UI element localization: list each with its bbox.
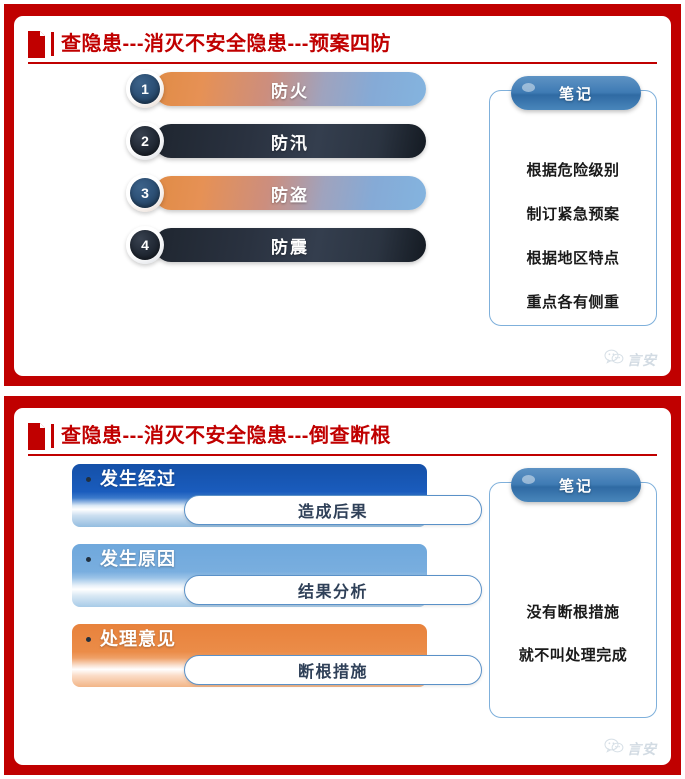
stack-item-head-label: 发生经过 [100, 470, 176, 490]
item-number-badge: 1 [126, 70, 164, 108]
watermark: 言安 [604, 738, 657, 759]
slide-deck: 查隐患---消灭不安全隐患---预案四防 防火 1 防汛 [0, 0, 685, 779]
stack-item-head-label: 处理意见 [100, 630, 176, 650]
notes-line: 重点各有侧重 [526, 291, 619, 312]
item-label: 防火 [271, 77, 309, 102]
notes-panel: 没有断根措施 就不叫处理完成 笔记 [489, 468, 657, 718]
slide-2-title-underline [28, 454, 657, 456]
item-number: 2 [130, 126, 160, 156]
watermark-text: 言安 [627, 350, 657, 370]
slide-1-title-underline [28, 62, 657, 64]
stack-item-pill-label: 断根措施 [298, 658, 368, 682]
notes-lines: 没有断根措施 就不叫处理完成 [490, 601, 656, 665]
notes-line: 根据危险级别 [526, 159, 619, 180]
notes-line: 制订紧急预案 [526, 203, 619, 224]
flag-page-icon [28, 31, 45, 58]
item-bar[interactable]: 防震 [154, 228, 426, 262]
stack-item-head: 发生经过 [86, 470, 176, 490]
notes-box: 根据危险级别 制订紧急预案 根据地区特点 重点各有侧重 [489, 90, 657, 326]
item-number-badge: 4 [126, 226, 164, 264]
slide-2-card: 查隐患---消灭不安全隐患---倒查断根 发生经过 造成后果 [14, 408, 671, 765]
stack-item-pill[interactable]: 结果分析 [184, 575, 482, 605]
item-number: 1 [130, 74, 160, 104]
notes-line: 没有断根措施 [526, 601, 619, 622]
slide-1-card: 查隐患---消灭不安全隐患---预案四防 防火 1 防汛 [14, 16, 671, 376]
slide-1-title: 查隐患---消灭不安全隐患---预案四防 [61, 34, 391, 54]
stack-item-head-label: 发生原因 [100, 550, 176, 570]
slide-2: 查隐患---消灭不安全隐患---倒查断根 发生经过 造成后果 [4, 396, 681, 775]
notes-tab[interactable]: 笔记 [511, 468, 641, 502]
numbered-item[interactable]: 防汛 2 [126, 124, 426, 158]
notes-tab[interactable]: 笔记 [511, 76, 641, 110]
item-label: 防震 [271, 233, 309, 258]
watermark: 言安 [604, 349, 657, 370]
notes-lines: 根据危险级别 制订紧急预案 根据地区特点 重点各有侧重 [490, 159, 656, 312]
item-number: 3 [130, 178, 160, 208]
stack-item-pill-label: 造成后果 [298, 498, 368, 522]
notes-line: 根据地区特点 [526, 247, 619, 268]
bullet-icon [86, 477, 91, 482]
stack-item-pill[interactable]: 断根措施 [184, 655, 482, 685]
notes-tab-label: 笔记 [559, 475, 593, 496]
item-number-badge: 3 [126, 174, 164, 212]
stack-item[interactable]: 发生原因 结果分析 [72, 544, 482, 607]
bullet-icon [86, 637, 91, 642]
stack-item-head: 处理意见 [86, 630, 176, 650]
item-label: 防汛 [271, 129, 309, 154]
item-bar[interactable]: 防盗 [154, 176, 426, 210]
notes-tab-label: 笔记 [559, 83, 593, 104]
title-divider-bar [51, 424, 54, 448]
stack-item[interactable]: 发生经过 造成后果 [72, 464, 482, 527]
flag-page-icon [28, 423, 45, 450]
root-cause-list: 发生经过 造成后果 发生原因 结果分析 [72, 464, 482, 687]
item-label: 防盗 [271, 181, 309, 206]
bullet-icon [86, 557, 91, 562]
numbered-item[interactable]: 防火 1 [126, 72, 426, 106]
four-prevention-list: 防火 1 防汛 2 防盗 [126, 72, 426, 262]
slide-2-title: 查隐患---消灭不安全隐患---倒查断根 [61, 426, 391, 446]
item-bar[interactable]: 防汛 [154, 124, 426, 158]
notes-panel: 根据危险级别 制订紧急预案 根据地区特点 重点各有侧重 笔记 [489, 76, 657, 326]
wechat-icon [604, 738, 624, 759]
watermark-text: 言安 [627, 739, 657, 759]
slide-1: 查隐患---消灭不安全隐患---预案四防 防火 1 防汛 [4, 4, 681, 386]
slide-2-title-row: 查隐患---消灭不安全隐患---倒查断根 [28, 418, 657, 454]
slide-1-title-row: 查隐患---消灭不安全隐患---预案四防 [28, 26, 657, 62]
stack-item-pill-label: 结果分析 [298, 578, 368, 602]
item-number: 4 [130, 230, 160, 260]
stack-item-pill[interactable]: 造成后果 [184, 495, 482, 525]
item-number-badge: 2 [126, 122, 164, 160]
notes-line: 就不叫处理完成 [519, 644, 628, 665]
wechat-icon [604, 349, 624, 370]
stack-item[interactable]: 处理意见 断根措施 [72, 624, 482, 687]
numbered-item[interactable]: 防盗 3 [126, 176, 426, 210]
title-divider-bar [51, 32, 54, 56]
numbered-item[interactable]: 防震 4 [126, 228, 426, 262]
item-bar[interactable]: 防火 [154, 72, 426, 106]
notes-box: 没有断根措施 就不叫处理完成 [489, 482, 657, 718]
stack-item-head: 发生原因 [86, 550, 176, 570]
